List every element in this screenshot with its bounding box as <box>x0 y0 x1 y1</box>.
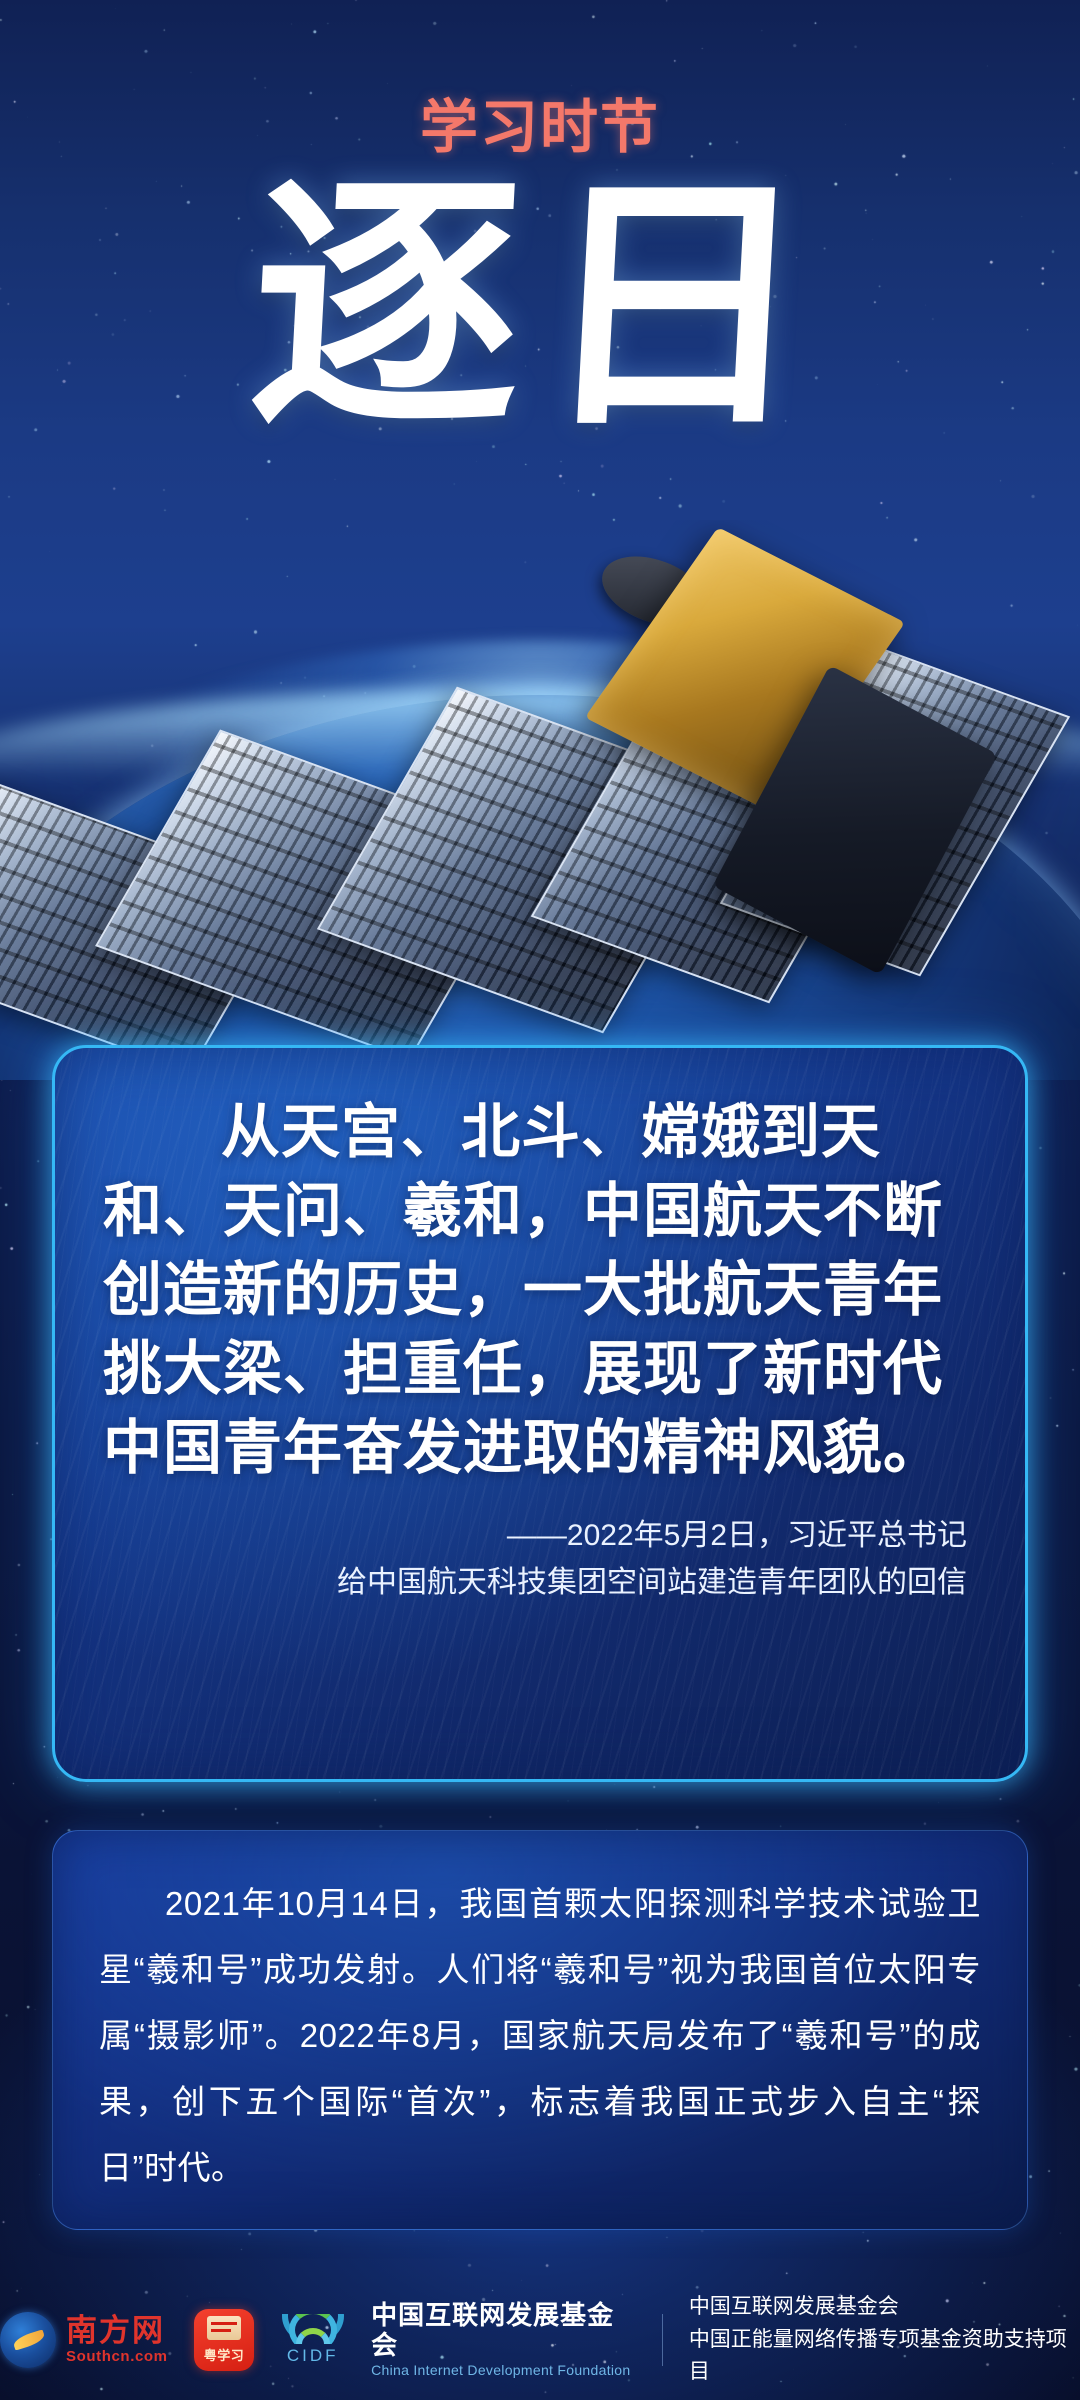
yuexuexi-label: 粤学习 <box>204 2345 245 2364</box>
footer-bar: 南方网 Southcn.com 粤学习 CIDF 中国互联网发展基金会 Chin… <box>0 2280 1080 2400</box>
hero-satellite-image <box>0 520 1080 1080</box>
cidf-name-en: China Internet Development Foundation <box>371 2362 636 2378</box>
yuexuexi-logo[interactable]: 粤学习 <box>194 2309 255 2371</box>
cidf-name-block: 中国互联网发展基金会 China Internet Development Fo… <box>371 2302 636 2378</box>
southcn-mark-icon <box>0 2312 56 2368</box>
body-text: 2021年10月14日，我国首颗太阳探测科学技术试验卫星“羲和号”成功发射。人们… <box>53 1831 1027 2230</box>
footer-sponsor-line-1: 中国互联网发展基金会 <box>689 2291 1080 2324</box>
body-card: 2021年10月14日，我国首颗太阳探测科学技术试验卫星“羲和号”成功发射。人们… <box>52 1830 1028 2230</box>
book-icon <box>207 2316 241 2340</box>
footer-sponsor-line-2: 中国正能量网络传播专项基金资助支持项目 <box>689 2324 1080 2389</box>
poster-root: 学习时节 逐日 从天宫、北斗、嫦娥到天和、天问、羲和，中国航天不断创造新的历史，… <box>0 0 1080 2400</box>
southcn-name-en: Southcn.com <box>66 2349 168 2365</box>
cidf-arc-icon <box>282 2314 344 2344</box>
quote-text: 从天宫、北斗、嫦娥到天和、天问、羲和，中国航天不断创造新的历史，一大批航天青年挑… <box>55 1048 1025 1487</box>
southcn-name-cn: 南方网 <box>66 2315 168 2348</box>
quote-attribution: ——2022年5月2日，习近平总书记 给中国航天科技集团空间站建造青年团队的回信 <box>55 1513 1025 1606</box>
cidf-name-cn: 中国互联网发展基金会 <box>371 2302 636 2362</box>
quote-attribution-line-2: 给中国航天科技集团空间站建造青年团队的回信 <box>103 1560 967 1607</box>
footer-sponsor-note: 中国互联网发展基金会 中国正能量网络传播专项基金资助支持项目 <box>689 2291 1080 2389</box>
footer-divider <box>662 2314 663 2366</box>
cidf-abbr: CIDF <box>280 2346 345 2366</box>
cidf-logo-mark[interactable]: CIDF <box>280 2314 345 2366</box>
page-title: 逐日 <box>0 170 1080 440</box>
quote-attribution-line-1: ——2022年5月2日，习近平总书记 <box>103 1513 967 1560</box>
southcn-logo[interactable]: 南方网 Southcn.com <box>0 2312 168 2368</box>
quote-card: 从天宫、北斗、嫦娥到天和、天问、羲和，中国航天不断创造新的历史，一大批航天青年挑… <box>52 1045 1028 1782</box>
